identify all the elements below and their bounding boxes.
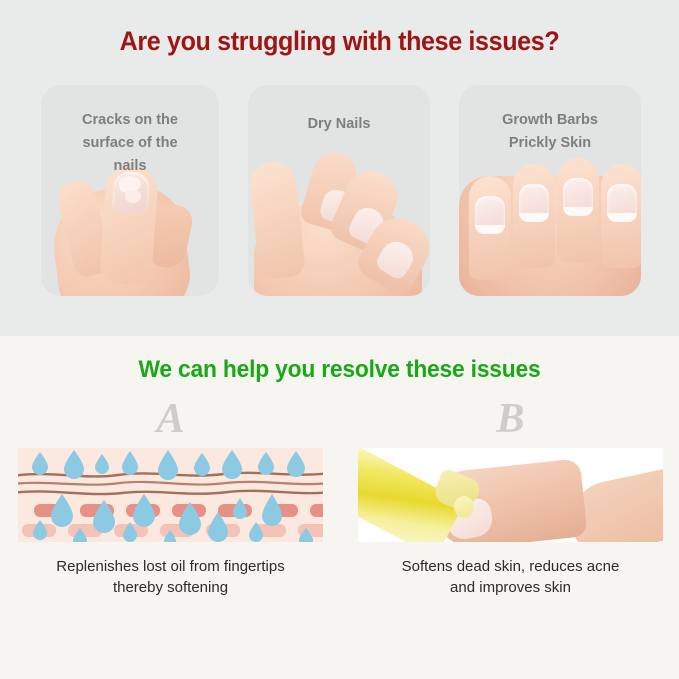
panel-caption-b-line2: and improves skin: [358, 577, 663, 598]
panel-caption-b-line1: Softens dead skin, reduces acne: [358, 556, 663, 577]
skin-hydration-diagram: [18, 448, 323, 542]
issue-card-title-line1: Dry Nails: [258, 113, 420, 136]
solution-section: We can help you resolve these issues A: [0, 336, 679, 679]
panel-caption-a: Replenishes lost oil from fingertips the…: [18, 556, 323, 598]
cuticle-oil-application-photo: [358, 448, 663, 542]
solution-panel-a: A: [18, 396, 323, 598]
issue-card-title-line3: nails: [51, 155, 209, 178]
problem-heading: Are you struggling with these issues?: [24, 26, 655, 57]
issue-card-title: Cracks on the surface of the nails: [41, 109, 219, 178]
issue-card-title-line2: surface of the: [51, 132, 209, 155]
panel-letter-b: B: [358, 396, 663, 448]
panel-caption-a-line2: thereby softening: [18, 577, 323, 598]
solution-panel-b: B Softens dead skin, reduces acne and im…: [358, 396, 663, 598]
issue-card-title-line1: Cracks on the: [51, 109, 209, 132]
dry-nails-photo: [248, 146, 430, 296]
panel-letter-a: A: [18, 396, 323, 448]
issue-card-dry-nails[interactable]: Dry Nails: [248, 85, 430, 296]
growth-barbs-photo: [459, 146, 641, 296]
issue-card-title-line2: Prickly Skin: [469, 132, 631, 155]
panel-caption-a-line1: Replenishes lost oil from fingertips: [18, 556, 323, 577]
issue-card-list: Cracks on the surface of the nails Dr: [41, 85, 641, 296]
issue-card-title-line1: Growth Barbs: [469, 109, 631, 132]
issue-card-growth-barbs[interactable]: Growth Barbs Prickly Skin: [459, 85, 641, 296]
issue-card-cracks[interactable]: Cracks on the surface of the nails: [41, 85, 219, 296]
panel-caption-b: Softens dead skin, reduces acne and impr…: [358, 556, 663, 598]
solution-heading: We can help you resolve these issues: [17, 356, 662, 384]
water-droplets: [18, 448, 323, 542]
problem-section: Are you struggling with these issues? Cr…: [0, 0, 679, 336]
issue-card-title: Dry Nails: [248, 113, 430, 136]
issue-card-title: Growth Barbs Prickly Skin: [459, 109, 641, 155]
